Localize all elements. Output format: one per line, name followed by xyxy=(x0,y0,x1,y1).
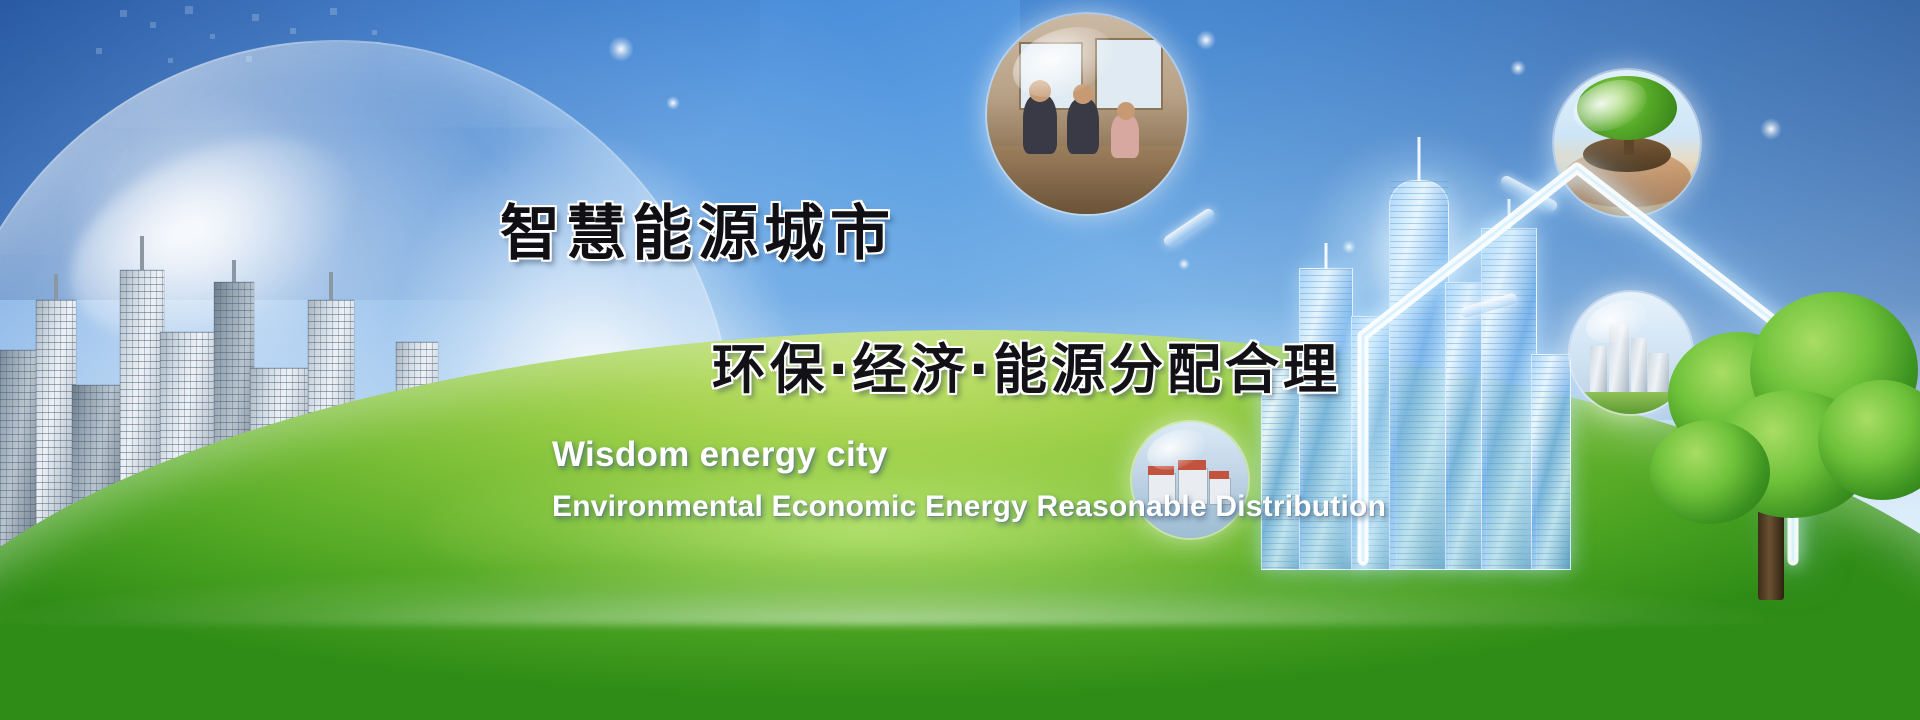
energy-city-banner: 智慧能源城市 环保·经济·能源分配合理 Wisdom energy city E… xyxy=(0,0,1920,720)
aerial-town-bubble xyxy=(1130,420,1250,540)
family-living-room-bubble xyxy=(985,12,1189,216)
green-tree xyxy=(1640,270,1920,600)
glass-skyscraper-group xyxy=(1255,140,1585,570)
tree-in-hand-bubble xyxy=(1552,68,1702,218)
